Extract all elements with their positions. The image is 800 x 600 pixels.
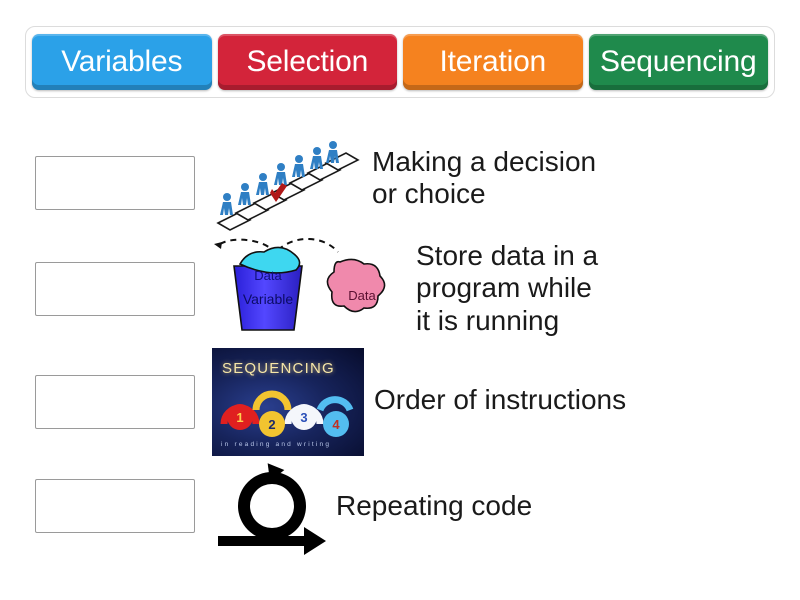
sequencing-ball-1: 1: [227, 404, 253, 430]
sequencing-ball-4: 4: [323, 411, 349, 437]
variable-bucket-image: Data Variable Data: [212, 238, 404, 338]
term-chip-sequencing[interactable]: Sequencing: [589, 34, 769, 90]
row-definition-3: Repeating code: [336, 490, 532, 522]
drop-zone-2[interactable]: [35, 375, 195, 429]
drop-zone-3[interactable]: [35, 479, 195, 533]
free-data-label: Data: [348, 288, 376, 303]
row-definition-2: Order of instructions: [374, 384, 626, 416]
sequencing-poster-image: SEQUENCING 1 2 3 4 in reading and writin…: [212, 348, 364, 456]
match-row: Data Variable Data Store data in a progr…: [0, 236, 800, 346]
sequencing-ball-2: 2: [259, 411, 285, 437]
row-definition-1: Store data in a program while it is runn…: [416, 240, 598, 337]
term-chip-selection[interactable]: Selection: [218, 34, 398, 90]
drop-zone-1[interactable]: [35, 262, 195, 316]
people-on-checkboxes-image: [212, 139, 364, 231]
sequencing-ball-3: 3: [291, 404, 317, 430]
term-chip-variables[interactable]: Variables: [32, 34, 212, 90]
loop-arrow-icon: [212, 462, 332, 562]
term-chip-iteration[interactable]: Iteration: [403, 34, 583, 90]
match-row: Repeating code: [0, 462, 800, 570]
match-row: SEQUENCING 1 2 3 4 in reading and writin…: [0, 348, 800, 458]
bucket-variable-label: Variable: [243, 291, 294, 307]
drop-zone-0[interactable]: [35, 156, 195, 210]
sequencing-subtitle: in reading and writing: [221, 441, 331, 448]
match-row: Making a decision or choice: [0, 139, 800, 231]
draggable-terms-tray: Variables Selection Iteration Sequencing: [25, 26, 775, 98]
sequencing-title: SEQUENCING: [222, 360, 335, 377]
bucket-data-label: Data: [254, 268, 282, 283]
row-definition-0: Making a decision or choice: [372, 146, 596, 211]
